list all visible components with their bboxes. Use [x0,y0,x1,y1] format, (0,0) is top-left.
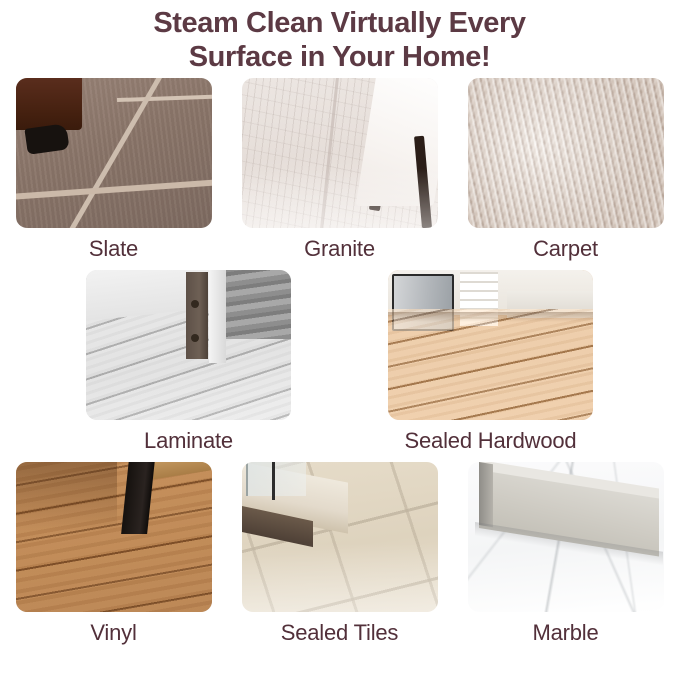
surface-card-carpet: Carpet [453,78,679,262]
surface-label-sealed-tiles: Sealed Tiles [281,620,398,646]
surface-image-laminate [86,270,291,420]
surface-label-granite: Granite [304,236,375,262]
surface-label-sealed-hardwood: Sealed Hardwood [405,428,577,454]
surface-row-3: Vinyl Sealed Tiles [0,462,679,646]
page-title-line-2: Surface in Your Home! [0,40,679,74]
surface-image-granite [242,78,438,228]
surface-label-marble: Marble [532,620,598,646]
surface-label-laminate: Laminate [144,428,233,454]
surface-label-vinyl: Vinyl [90,620,136,646]
surface-card-slate: Slate [1,78,227,262]
surface-image-marble [468,462,664,612]
page-title: Steam Clean Virtually Every Surface in Y… [0,0,679,74]
surface-label-slate: Slate [89,236,138,262]
surface-label-carpet: Carpet [533,236,598,262]
surface-row-1: Slate Granite [0,78,679,262]
surface-image-sealed-tiles [242,462,438,612]
surface-image-vinyl [16,462,212,612]
surface-card-sealed-tiles: Sealed Tiles [227,462,453,646]
surface-card-marble: Marble [453,462,679,646]
page-title-line-1: Steam Clean Virtually Every [0,6,679,40]
surface-row-2: Laminate Sealed Hardwood [0,270,679,454]
surface-image-carpet [468,78,664,228]
surface-card-laminate: Laminate [38,270,340,454]
surface-types-infographic: Steam Clean Virtually Every Surface in Y… [0,0,679,692]
surface-image-slate [16,78,212,228]
surface-card-granite: Granite [227,78,453,262]
surface-card-vinyl: Vinyl [1,462,227,646]
surface-card-sealed-hardwood: Sealed Hardwood [340,270,642,454]
surface-image-sealed-hardwood [388,270,593,420]
